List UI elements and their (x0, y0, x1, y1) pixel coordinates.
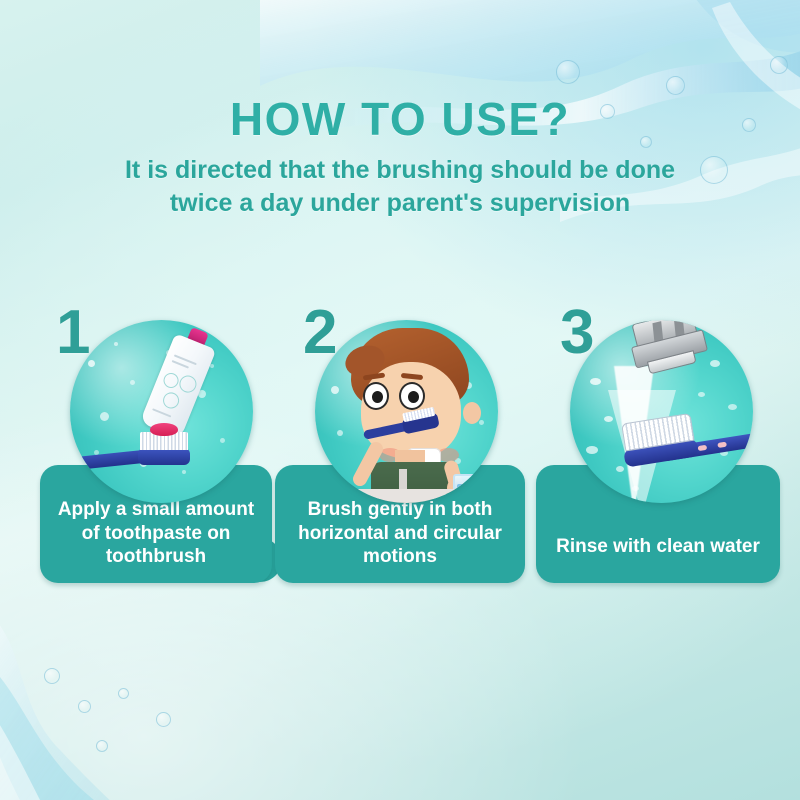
faucet-icon (399, 469, 407, 491)
step-card-1: 1 (38, 300, 288, 600)
poster-subtitle: It is directed that the brushing should … (0, 154, 800, 221)
boy-eye-left (363, 382, 389, 410)
subtitle-line-2: twice a day under parent's supervision (170, 189, 630, 217)
step-number-1: 1 (56, 302, 90, 364)
step-card-3: 3 (528, 300, 778, 600)
page-title: HOW TO USE? (0, 96, 800, 142)
toothpaste-blob (150, 423, 178, 436)
step-number-3: 3 (560, 302, 594, 364)
toothpaste-tube-icon (70, 320, 253, 503)
how-to-use-poster: HOW TO USE? It is directed that the brus… (0, 0, 800, 800)
toothbrush (604, 416, 753, 484)
step-number-2: 2 (303, 302, 337, 364)
step-2-caption-text: Brush gently in both horizontal and circ… (275, 498, 525, 569)
step-1-caption-text: Apply a small amount of toothpaste on to… (40, 498, 272, 569)
toothbrush-head (138, 448, 190, 465)
bubble-icon (556, 60, 580, 84)
bubble-icon (96, 740, 108, 752)
toothbrush (76, 436, 198, 472)
steps-row: 1 (0, 300, 800, 600)
boy-brushing-teeth-icon (315, 320, 498, 503)
boy-figure (337, 328, 487, 503)
bubble-icon (770, 56, 788, 74)
toothpaste-tube (140, 333, 217, 438)
bubble-icon (44, 668, 60, 684)
tap-head-icon (620, 320, 718, 387)
step-3-illustration-circle (570, 320, 753, 503)
step-2-illustration-circle (315, 320, 498, 503)
poster-header: HOW TO USE? It is directed that the brus… (0, 96, 800, 221)
bubble-icon (156, 712, 171, 727)
boy-ear (463, 402, 481, 424)
step-3-caption-text: Rinse with clean water (548, 535, 768, 569)
bubble-icon (666, 76, 685, 95)
step-card-2: 2 (275, 300, 525, 600)
tube-body (140, 333, 217, 438)
boy-eye-right (399, 382, 425, 410)
bubble-icon (78, 700, 91, 713)
step-1-illustration-circle (70, 320, 253, 503)
subtitle-line-1: It is directed that the brushing should … (125, 156, 675, 184)
bubble-icon (118, 688, 129, 699)
sink-counter (315, 489, 498, 503)
rinsing-toothbrush-icon (570, 320, 753, 503)
